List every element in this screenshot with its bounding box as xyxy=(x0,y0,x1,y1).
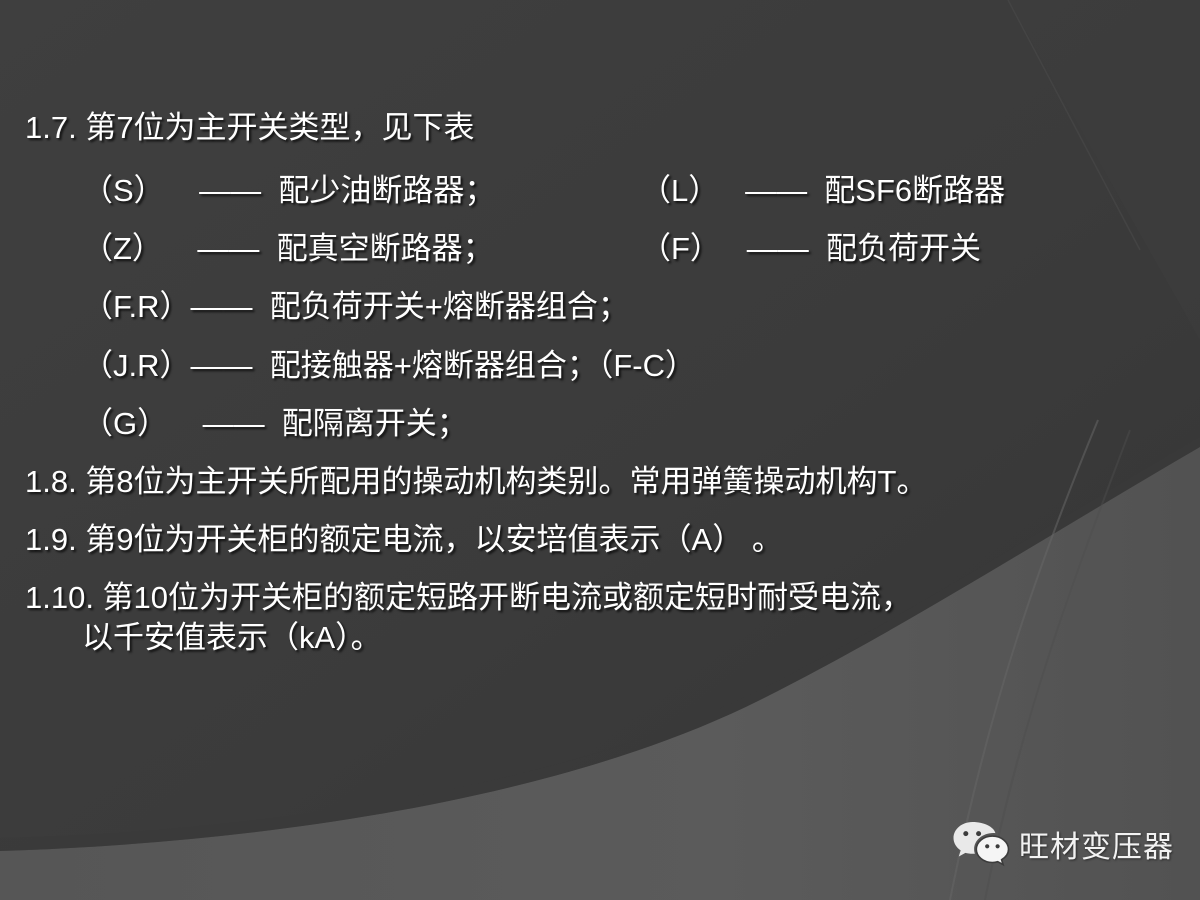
bullet-1-9: 1.9. 第9位为开关柜的额定电流，以安培值表示（A） 。 xyxy=(25,524,783,555)
bullet-switch-type-jr: （J.R）—— 配接触器+熔断器组合；（F-C） xyxy=(82,350,696,381)
watermark: 旺材变压器 xyxy=(952,820,1174,868)
bullet-switch-type-z: （Z） —— 配真空断路器； xyxy=(82,233,494,264)
slide-canvas: 1.7. 第7位为主开关类型，见下表 （S） —— 配少油断路器； （L） ——… xyxy=(0,0,1200,900)
bullet-switch-type-s: （S） —— 配少油断路器； xyxy=(82,175,495,206)
bullet-1-10-continuation: 以千安值表示（kA）。 xyxy=(82,622,382,653)
bullet-1-8: 1.8. 第8位为主开关所配用的操动机构类别。常用弹簧操动机构T。 xyxy=(25,466,928,497)
bullet-switch-type-l: （L） —— 配SF6断路器 xyxy=(640,175,1005,206)
wechat-icon xyxy=(952,820,1010,868)
bullet-1-10: 1.10. 第10位为开关柜的额定短路开断电流或额定短时耐受电流， xyxy=(25,582,912,613)
bullet-switch-type-fr: （F.R）—— 配负荷开关+熔断器组合； xyxy=(82,291,629,322)
bullet-switch-type-f: （F） —— 配负荷开关 xyxy=(640,233,981,264)
bullet-switch-type-g: （G） —— 配隔离开关； xyxy=(82,408,468,439)
watermark-label: 旺材变压器 xyxy=(1019,822,1174,866)
bullet-1-7: 1.7. 第7位为主开关类型，见下表 xyxy=(25,112,475,143)
slide-text-body: 1.7. 第7位为主开关类型，见下表 （S） —— 配少油断路器； （L） ——… xyxy=(0,0,1200,900)
